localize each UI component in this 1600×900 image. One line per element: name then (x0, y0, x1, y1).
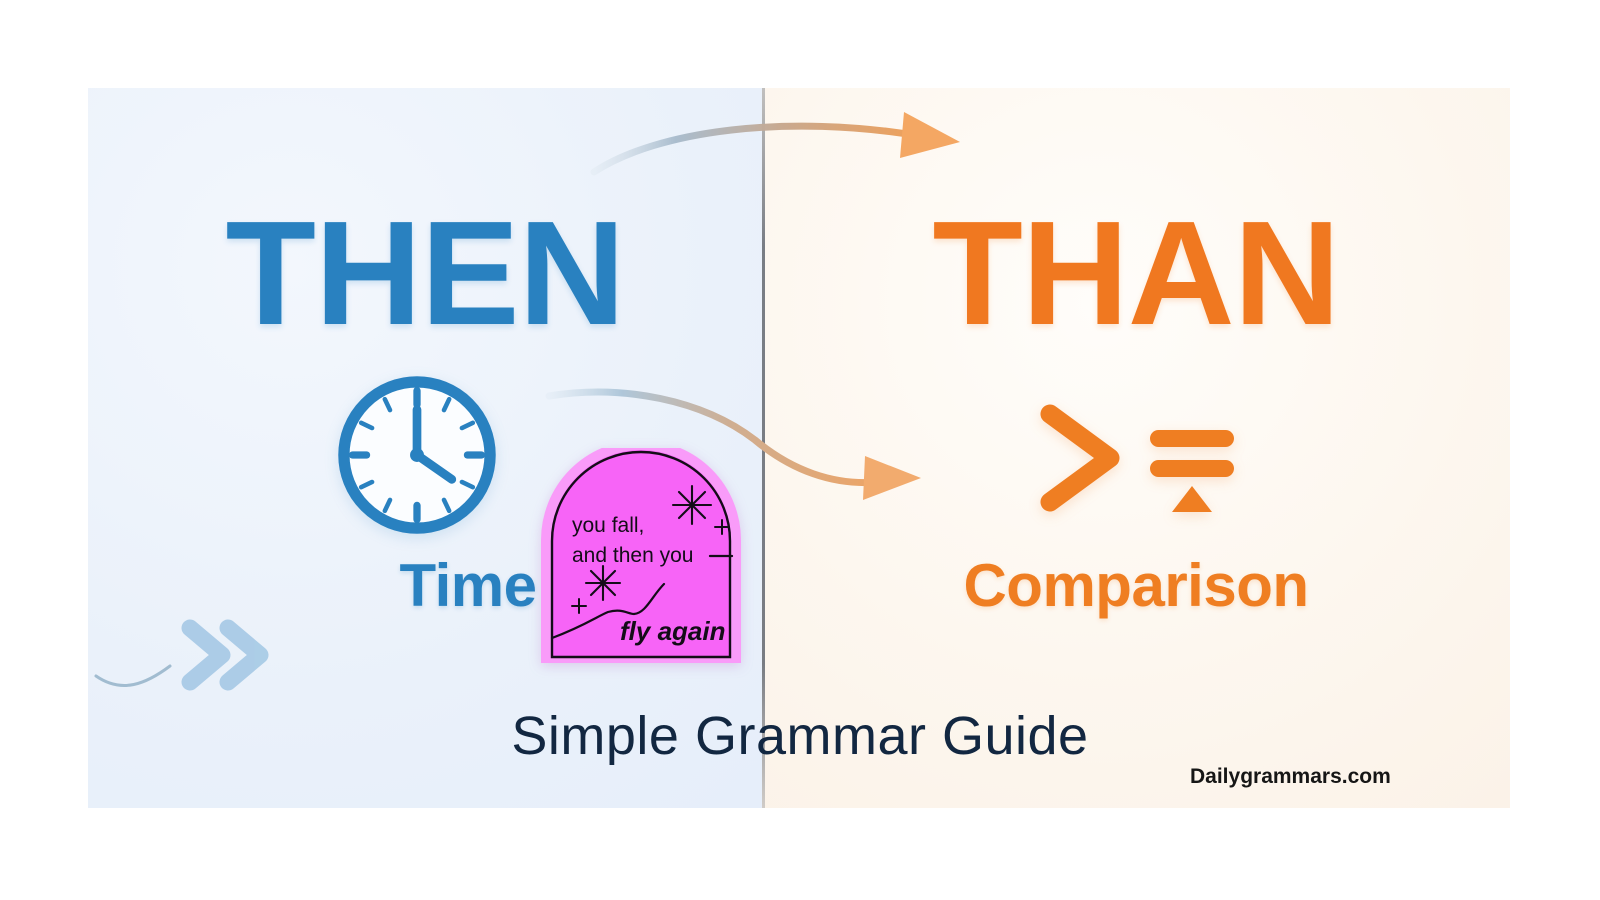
than-panel: THAN Comparison (762, 88, 1510, 808)
page-tagline: Simple Grammar Guide (0, 705, 1600, 767)
comparison-panels: THEN (88, 88, 1510, 808)
site-watermark: Dailygrammars.com (1190, 765, 1391, 789)
sticker-emphasis: fly again (620, 616, 725, 646)
equals-top-bar (1150, 430, 1234, 447)
clock-icon (330, 368, 504, 542)
pink-arch-sticker: you fall, and then you fly again (536, 448, 746, 663)
greater-than-equals-icon (1032, 398, 1242, 518)
headword-than: THAN (762, 200, 1510, 348)
sublabel-comparison: Comparison (762, 556, 1510, 616)
triangle-glyph (1172, 486, 1212, 512)
greater-than-glyph (1050, 414, 1110, 502)
headword-then: THEN (88, 200, 762, 348)
then-panel: THEN (88, 88, 762, 808)
double-chevron-right-icon (94, 608, 294, 698)
eight-point-sparkle (586, 566, 620, 600)
sticker-line-1: you fall, (572, 514, 644, 537)
panel-divider (762, 88, 765, 808)
eight-point-sparkle (673, 486, 711, 524)
poster-canvas: THEN (0, 0, 1600, 900)
sticker-line-2: and then you (572, 544, 693, 567)
equals-bottom-bar (1150, 460, 1234, 477)
